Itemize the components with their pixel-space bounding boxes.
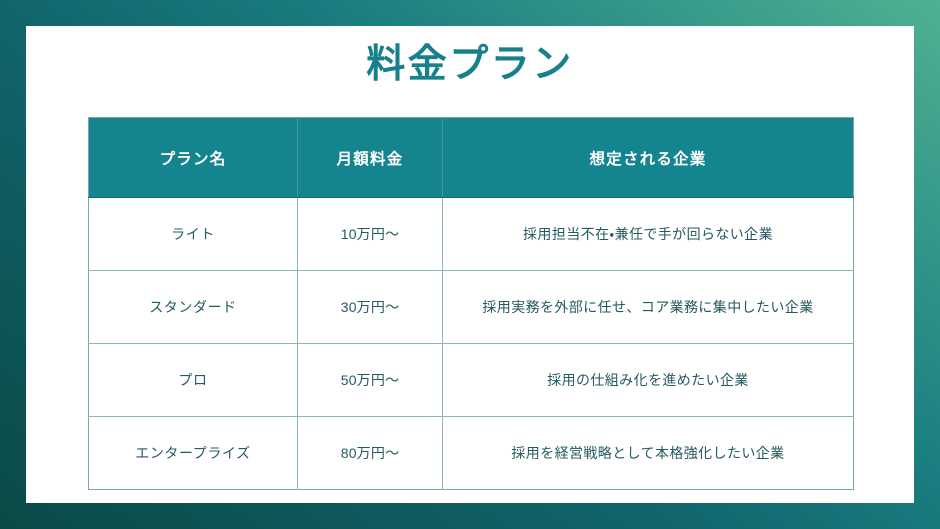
- table-row: ライト 10万円〜 採用担当不在・兼任で手が回らない企業: [89, 198, 854, 271]
- pricing-table-container: プラン名 月額料金 想定される企業 ライト 10万円〜 採用担当不在・兼任で手が…: [88, 117, 853, 490]
- pricing-table: プラン名 月額料金 想定される企業 ライト 10万円〜 採用担当不在・兼任で手が…: [88, 117, 854, 490]
- page-title: 料金プラン: [26, 43, 914, 88]
- table-row: スタンダード 30万円〜 採用実務を外部に任せ、コア業務に集中したい企業: [89, 271, 854, 344]
- cell-target-company: 採用の仕組み化を進めたい企業: [443, 344, 854, 417]
- column-header-monthly-price: 月額料金: [298, 118, 443, 198]
- cell-target-company: 採用実務を外部に任せ、コア業務に集中したい企業: [443, 271, 854, 344]
- cell-monthly-price: 50万円〜: [298, 344, 443, 417]
- table-body: ライト 10万円〜 採用担当不在・兼任で手が回らない企業 スタンダード 30万円…: [89, 198, 854, 490]
- cell-target-company: 採用を経営戦略として本格強化したい企業: [443, 417, 854, 490]
- cell-monthly-price: 30万円〜: [298, 271, 443, 344]
- table-header: プラン名 月額料金 想定される企業: [89, 118, 854, 198]
- column-header-target-company: 想定される企業: [443, 118, 854, 198]
- cell-plan-name: スタンダード: [89, 271, 298, 344]
- cell-monthly-price: 80万円〜: [298, 417, 443, 490]
- cell-plan-name: エンタープライズ: [89, 417, 298, 490]
- cell-monthly-price: 10万円〜: [298, 198, 443, 271]
- table-header-row: プラン名 月額料金 想定される企業: [89, 118, 854, 198]
- slide-card: 料金プラン プラン名 月額料金 想定される企業 ライト: [26, 26, 914, 503]
- table-row: プロ 50万円〜 採用の仕組み化を進めたい企業: [89, 344, 854, 417]
- slide-background: 料金プラン プラン名 月額料金 想定される企業 ライト: [0, 0, 940, 529]
- column-header-plan-name: プラン名: [89, 118, 298, 198]
- cell-target-company: 採用担当不在・兼任で手が回らない企業: [443, 198, 854, 271]
- cell-plan-name: プロ: [89, 344, 298, 417]
- cell-plan-name: ライト: [89, 198, 298, 271]
- table-row: エンタープライズ 80万円〜 採用を経営戦略として本格強化したい企業: [89, 417, 854, 490]
